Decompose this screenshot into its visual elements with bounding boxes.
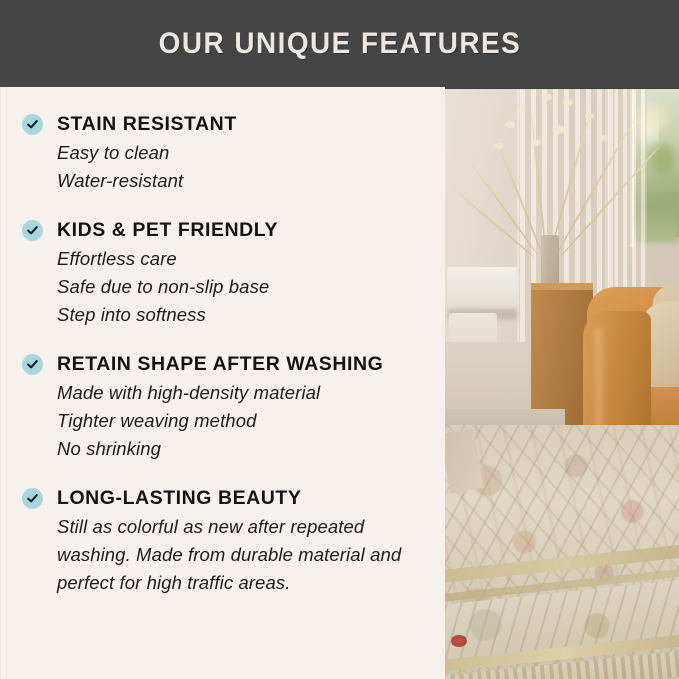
feature-title: RETAIN SHAPE AFTER WASHING: [57, 353, 431, 376]
feature-infographic: OUR UNIQUE FEATURES STAIN RESISTANT Easy…: [0, 0, 679, 679]
feature-lines: Still as colorful as new after repeated …: [57, 513, 431, 597]
feature-lines: Easy to clean Water-resistant: [57, 139, 431, 195]
feature-item-stain-resistant: STAIN RESISTANT Easy to clean Water-resi…: [15, 113, 431, 195]
features-panel: STAIN RESISTANT Easy to clean Water-resi…: [0, 87, 445, 679]
console-table-top: [531, 283, 593, 290]
feature-title: KIDS & PET FRIENDLY: [57, 219, 431, 242]
feature-line: Easy to clean: [57, 139, 431, 167]
header-banner: OUR UNIQUE FEATURES: [0, 0, 679, 87]
radiator: [447, 267, 517, 309]
feature-title: STAIN RESISTANT: [57, 113, 431, 136]
dried-floret: [553, 125, 565, 134]
photo-top-edge: [445, 87, 679, 89]
dried-floret: [541, 93, 552, 101]
feature-line: Water-resistant: [57, 167, 431, 195]
page-title: OUR UNIQUE FEATURES: [158, 27, 521, 61]
dried-floret: [531, 139, 541, 146]
content-area: STAIN RESISTANT Easy to clean Water-resi…: [0, 87, 679, 679]
feature-lines: Made with high-density material Tighter …: [57, 379, 431, 463]
dried-floret: [563, 99, 573, 106]
vase: [541, 235, 559, 287]
product-lifestyle-photo: [445, 87, 679, 679]
feature-lines: Effortless care Safe due to non-slip bas…: [57, 245, 431, 329]
feature-line: Step into softness: [57, 301, 431, 329]
check-circle-icon: [22, 488, 43, 509]
dried-floret: [599, 135, 607, 141]
feature-line: Made with high-density material: [57, 379, 431, 407]
check-circle-icon: [22, 114, 43, 135]
feature-title: LONG-LASTING BEAUTY: [57, 487, 431, 510]
feature-line: Safe due to non-slip base: [57, 273, 431, 301]
wall-corner: [517, 87, 519, 357]
feature-line: No shrinking: [57, 435, 431, 463]
dried-floret: [495, 143, 504, 149]
check-circle-icon: [22, 354, 43, 375]
feature-line: Tighter weaving method: [57, 407, 431, 435]
dried-floret: [585, 113, 594, 119]
feature-item-retain-shape: RETAIN SHAPE AFTER WASHING Made with hig…: [15, 353, 431, 463]
area-rug-motif: [451, 635, 467, 647]
feature-line: Effortless care: [57, 245, 431, 273]
dried-floret: [505, 121, 515, 128]
check-circle-icon: [22, 220, 43, 241]
dried-floret: [517, 107, 526, 113]
features-list: STAIN RESISTANT Easy to clean Water-resi…: [15, 113, 431, 597]
feature-item-long-lasting-beauty: LONG-LASTING BEAUTY Still as colorful as…: [15, 487, 431, 597]
feature-paragraph: Still as colorful as new after repeated …: [57, 513, 431, 597]
feature-item-kids-pet-friendly: KIDS & PET FRIENDLY Effortless care Safe…: [15, 219, 431, 329]
